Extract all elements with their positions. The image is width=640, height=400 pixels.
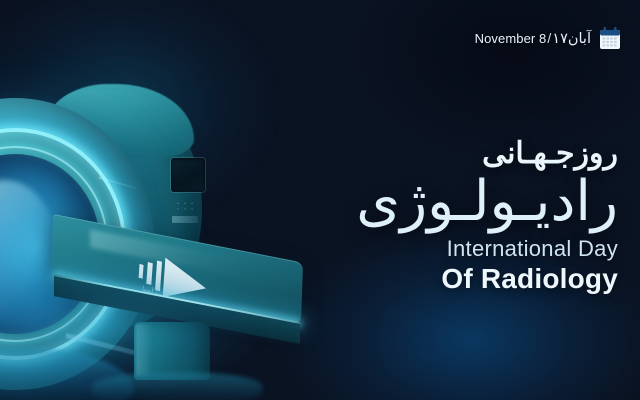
calendar-icon [598, 26, 622, 51]
headline-persian-line1: روزجـهـانی [198, 138, 618, 170]
date-persian-day: ۱۷ [552, 31, 568, 47]
headline-english-line1: International Day [198, 237, 618, 261]
date-gregorian: November 8 [475, 31, 547, 46]
date-row: آبان۱۷/November 8 [475, 26, 622, 51]
mri-control-panel-label [172, 216, 198, 223]
mri-control-panel-buttons[interactable] [174, 200, 196, 212]
headline-block: روزجـهـانی رادیـولـوژی International Day… [198, 138, 618, 295]
date-persian-month: آبان [568, 31, 591, 47]
date-label: آبان۱۷/November 8 [475, 30, 591, 47]
radiology-day-banner: بیمه آسیا [0, 0, 640, 400]
date-separator: / [546, 30, 552, 46]
headline-english-line2: Of Radiology [198, 264, 618, 295]
headline-persian-line2: رادیـولـوژی [198, 172, 618, 229]
